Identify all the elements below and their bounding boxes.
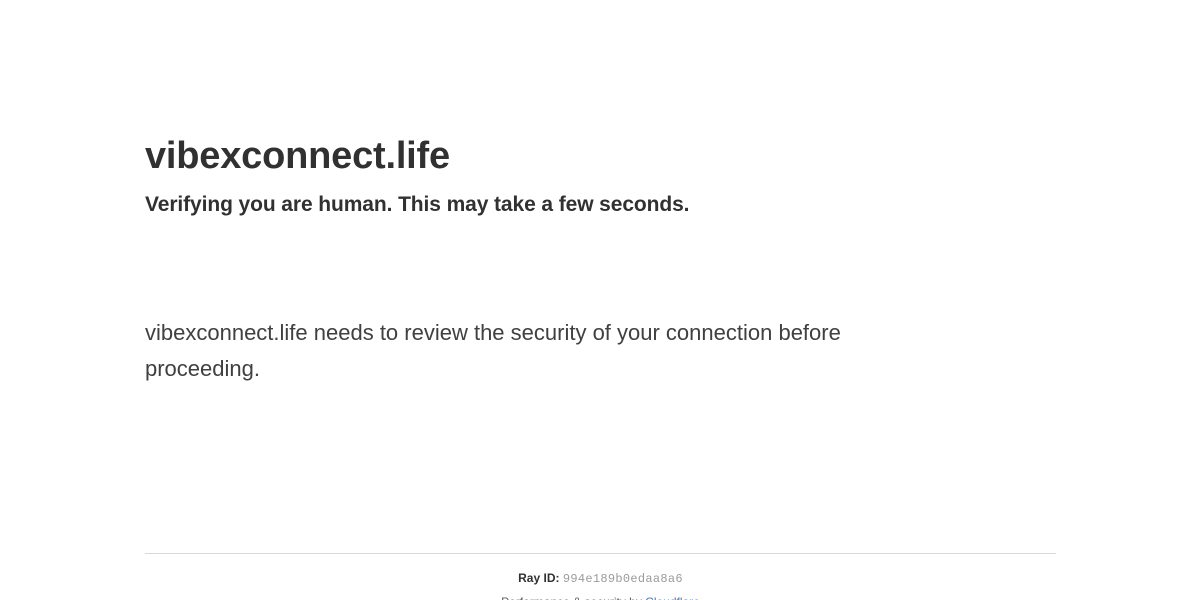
ray-id-row: Ray ID: 994e189b0edaa8a6 xyxy=(145,554,1056,590)
ray-id-label: Ray ID: xyxy=(518,571,559,585)
cloudflare-link[interactable]: Cloudflare xyxy=(645,595,700,600)
verification-status-text: Verifying you are human. This may take a… xyxy=(145,179,1056,219)
verification-widget-slot[interactable] xyxy=(145,237,1056,315)
ray-id-value: 994e189b0edaa8a6 xyxy=(563,572,683,586)
page-title: vibexconnect.life xyxy=(145,0,1056,179)
attribution-row: Performance & security by Cloudflare xyxy=(145,590,1056,600)
challenge-description: vibexconnect.life needs to review the se… xyxy=(145,315,945,387)
attribution-prefix: Performance & security by xyxy=(501,595,645,600)
footer: Ray ID: 994e189b0edaa8a6 Performance & s… xyxy=(145,553,1056,600)
main-content: vibexconnect.life Verifying you are huma… xyxy=(145,0,1056,387)
challenge-page: vibexconnect.life Verifying you are huma… xyxy=(0,0,1200,600)
